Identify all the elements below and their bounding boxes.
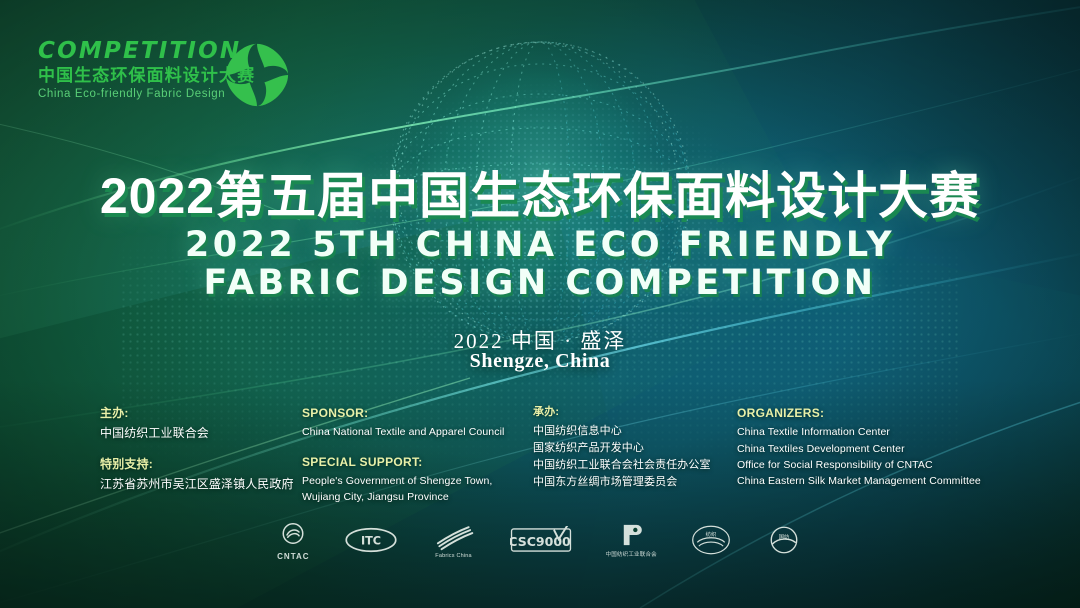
china-textile-planning-institute-logo: 中国纺织工业联合会 — [606, 522, 657, 558]
fabrics-china-logo: Fabrics China — [432, 521, 476, 559]
credit-line: Office for Social Responsibility of CNTA… — [737, 457, 1037, 473]
credit-heading: 承办: — [533, 405, 733, 421]
credit-block: ORGANIZERS: China Textile Information Ce… — [737, 405, 1037, 489]
credit-heading: SPECIAL SUPPORT: — [302, 454, 527, 471]
credit-line: 国家纺织产品开发中心 — [533, 440, 733, 457]
credit-block: 特别支持: 江苏省苏州市吴江区盛泽镇人民政府 — [100, 456, 295, 494]
credit-line: China Textile Information Center — [737, 424, 1037, 440]
main-title-zh: 2022第五届中国生态环保面料设计大赛 — [0, 156, 1080, 228]
credits-column-undertaker-zh: 承办: 中国纺织信息中心 国家纺织产品开发中心 中国纺织工业联合会社会责任办公室… — [533, 405, 733, 504]
credit-block: SPONSOR: China National Textile and Appa… — [302, 405, 527, 441]
credit-line: China Eastern Silk Market Management Com… — [737, 473, 1037, 489]
credit-line: 中国纺织工业联合会 — [100, 424, 295, 443]
credit-line: China National Textile and Apparel Counc… — [302, 424, 527, 440]
poster-canvas: COMPETITION 中国生态环保面料设计大赛 China Eco-frien… — [0, 0, 1080, 608]
credit-heading: 主办: — [100, 405, 295, 422]
credits-column-organizer-zh: 主办: 中国纺织工业联合会 特别支持: 江苏省苏州市吴江区盛泽镇人民政府 — [100, 405, 295, 507]
credit-block: 主办: 中国纺织工业联合会 — [100, 405, 295, 443]
credits-column-organizers-en: ORGANIZERS: China Textile Information Ce… — [737, 405, 1037, 502]
credit-line: 中国纺织工业联合会社会责任办公室 — [533, 457, 733, 474]
credit-line: 中国纺织信息中心 — [533, 423, 733, 440]
credit-heading: SPONSOR: — [302, 405, 527, 422]
cntac-logo: CNTAC — [277, 520, 309, 561]
credit-block: SPECIAL SUPPORT: People's Government of … — [302, 454, 527, 506]
four-leaf-pinwheel-icon — [220, 38, 294, 112]
logo-subcaption: Fabrics China — [435, 553, 472, 559]
svg-text:纺织: 纺织 — [706, 530, 717, 538]
ctic-logo: ITC — [344, 525, 398, 555]
credit-heading: ORGANIZERS: — [737, 405, 1037, 422]
svg-text:CSC9000: CSC9000 — [510, 534, 571, 549]
location-en: Shengze, China — [0, 350, 1080, 373]
brand-lockup: COMPETITION 中国生态环保面料设计大赛 China Eco-frien… — [38, 40, 298, 114]
credit-line: People's Government of Shengze Town, — [302, 473, 527, 489]
credit-line: 江苏省苏州市吴江区盛泽镇人民政府 — [100, 475, 295, 494]
credits-section: 主办: 中国纺织工业联合会 特别支持: 江苏省苏州市吴江区盛泽镇人民政府 SPO… — [0, 405, 1080, 500]
credit-line: Wujiang City, Jiangsu Province — [302, 489, 527, 505]
main-title-en-line1: 2022 5TH CHINA ECO FRIENDLY — [0, 225, 1080, 265]
svg-text:ITC: ITC — [360, 535, 380, 548]
credit-heading: 特别支持: — [100, 456, 295, 473]
logo-caption: CNTAC — [277, 552, 309, 561]
logo-subcaption: 中国纺织工业联合会 — [606, 550, 657, 558]
csc9000-logo: CSC9000 — [510, 526, 572, 554]
svg-text:国纺: 国纺 — [779, 533, 790, 541]
credit-block: 承办: 中国纺织信息中心 国家纺织产品开发中心 中国纺织工业联合会社会责任办公室… — [533, 405, 733, 491]
credit-line: China Textiles Development Center — [737, 441, 1037, 457]
eco-textile-logo: 国纺 — [765, 525, 803, 555]
sponsor-logo-strip: CNTAC ITC Fabrics China CSC9000 — [0, 512, 1080, 568]
credits-column-sponsor-en: SPONSOR: China National Textile and Appa… — [302, 405, 527, 519]
china-textile-award-logo: 纺织 — [691, 524, 731, 556]
main-title-en-line2: FABRIC DESIGN COMPETITION — [0, 263, 1080, 303]
credit-line: 中国东方丝绸市场管理委员会 — [533, 474, 733, 491]
